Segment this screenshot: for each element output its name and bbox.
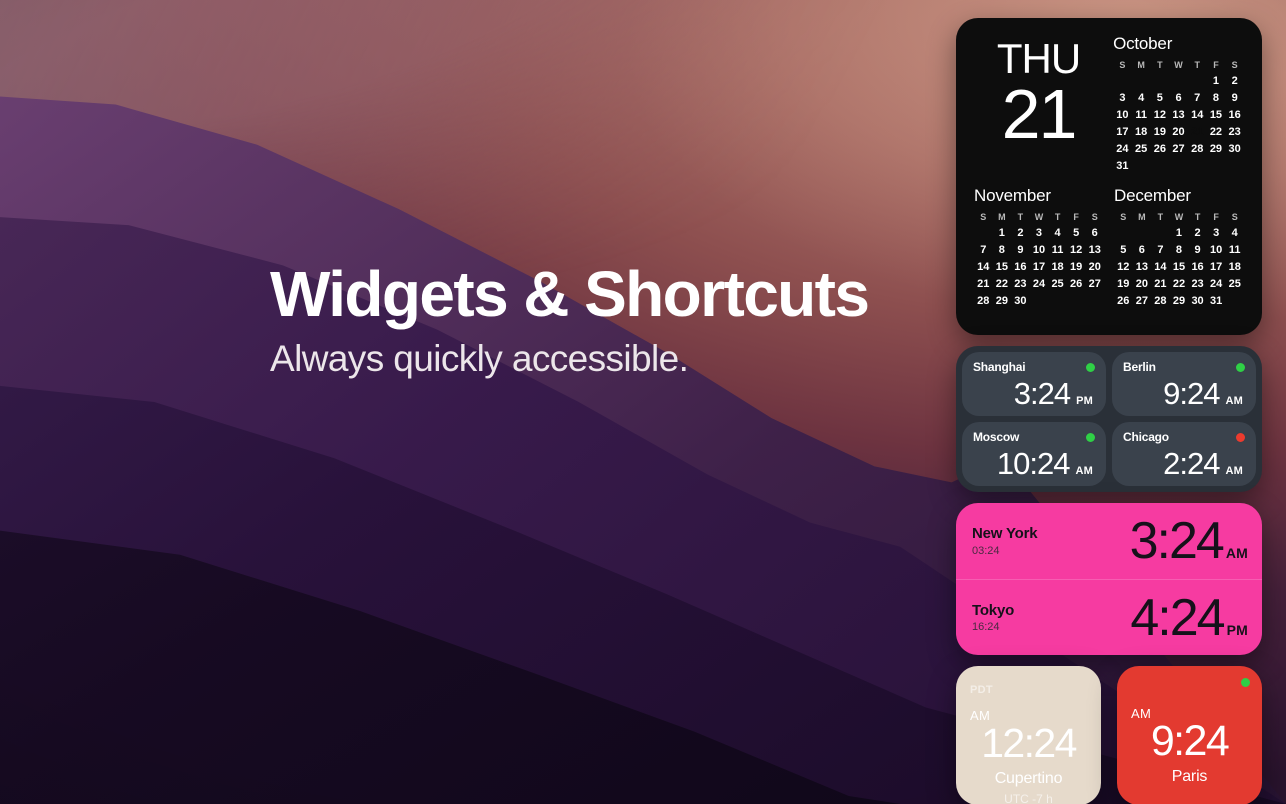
calendar-day[interactable]: 7 <box>1151 243 1170 258</box>
clock-cell-header: Moscow <box>973 430 1095 444</box>
calendar-day[interactable]: 24 <box>1030 277 1049 292</box>
calendar-day[interactable]: 10 <box>1113 108 1132 123</box>
calendar-day[interactable]: 12 <box>1067 243 1086 258</box>
calendar-day[interactable]: 5 <box>1150 91 1169 106</box>
calendar-day[interactable]: 20 <box>1133 277 1152 292</box>
clock-time: 3:24 <box>1130 515 1223 567</box>
month-grid: SMTWTFS.....1234567891011121314151617181… <box>1113 60 1244 174</box>
clock-city: New York <box>972 525 1037 542</box>
pink-row-labels: New York 03:24 <box>972 525 1037 556</box>
world-clock-cell[interactable]: Chicago 2:24 AM <box>1112 422 1256 486</box>
calendar-day[interactable]: 27 <box>1133 294 1152 309</box>
clock-meridiem: AM <box>1131 706 1151 721</box>
calendar-day[interactable]: 6 <box>1133 243 1152 258</box>
calendar-day[interactable]: 13 <box>1085 243 1104 258</box>
calendar-daynum: 21 <box>974 79 1103 149</box>
calendar-day[interactable]: 15 <box>993 260 1012 275</box>
calendar-day[interactable]: 25 <box>1132 142 1151 157</box>
clock-time-row: 3:24 PM <box>973 378 1095 409</box>
clock-time-row: 2:24 AM <box>1123 448 1245 479</box>
calendar-day[interactable]: 2 <box>1225 74 1244 89</box>
calendar-day[interactable]: 1 <box>1207 74 1226 89</box>
hero-text-block: Widgets & Shortcuts Always quickly acces… <box>270 262 890 377</box>
calendar-day[interactable]: 19 <box>1114 277 1133 292</box>
calendar-day[interactable]: 16 <box>1225 108 1244 123</box>
calendar-bottom-row: November SMTWTFS.12345678910111213141516… <box>974 186 1244 309</box>
calendar-day[interactable]: 11 <box>1132 108 1151 123</box>
calendar-day[interactable]: 5 <box>1114 243 1133 258</box>
mini-calendar-october[interactable]: October SMTWTFS.....12345678910111213141… <box>1113 34 1244 174</box>
clock-city: Shanghai <box>973 360 1025 374</box>
calendar-widget[interactable]: THU 21 October SMTWTFS.....1234567891011… <box>956 18 1262 335</box>
calendar-day-blank: . <box>1150 74 1169 89</box>
clock-city: Paris <box>1117 768 1262 786</box>
calendar-day[interactable]: 19 <box>1150 125 1169 140</box>
clock-time: 9:24 <box>1117 720 1262 763</box>
calendar-today-block: THU 21 <box>974 34 1103 174</box>
month-name: November <box>974 186 1104 206</box>
clock-meridiem: PM <box>1227 622 1248 638</box>
calendar-day[interactable]: 21 <box>1151 277 1170 292</box>
weekday-header: W <box>1169 60 1188 72</box>
clock-meridiem: AM <box>1225 395 1243 407</box>
clock-meridiem: AM <box>1225 465 1243 477</box>
calendar-day[interactable]: 30 <box>1188 294 1207 309</box>
weekday-header: S <box>1225 212 1244 224</box>
month-grid: SMTWTFS...123456789101112131415161718192… <box>1114 212 1244 309</box>
calendar-day[interactable]: 26 <box>1150 142 1169 157</box>
calendar-day[interactable]: 25 <box>1225 277 1244 292</box>
weekday-header: T <box>1188 212 1207 224</box>
timezone-abbreviation: PDT <box>970 684 993 696</box>
calendar-day[interactable]: 5 <box>1067 226 1086 241</box>
clock-city: Tokyo <box>972 602 1014 619</box>
weekday-header: S <box>974 212 993 224</box>
calendar-day[interactable]: 3 <box>1207 226 1226 241</box>
clock-city: Cupertino <box>956 770 1101 788</box>
clock-cell-header: Chicago <box>1123 430 1245 444</box>
calendar-day[interactable]: 23 <box>1225 125 1244 140</box>
calendar-day[interactable]: 29 <box>1207 142 1226 157</box>
calendar-day[interactable]: 23 <box>1011 277 1030 292</box>
clock-time: 4:24 <box>1130 592 1223 644</box>
daylight-dot-icon <box>1241 678 1250 687</box>
calendar-day[interactable]: 30 <box>1225 142 1244 157</box>
calendar-day[interactable]: 8 <box>993 243 1012 258</box>
weekday-header: S <box>1113 60 1132 72</box>
calendar-day[interactable]: 16 <box>1011 260 1030 275</box>
clock-city: Moscow <box>973 430 1019 444</box>
clock-city: Berlin <box>1123 360 1156 374</box>
calendar-day-today[interactable]: 21 <box>1188 125 1207 140</box>
clock-time-24h: 16:24 <box>972 621 1014 633</box>
world-clock-cell[interactable]: Shanghai 3:24 PM <box>962 352 1106 416</box>
weekday-header: M <box>993 212 1012 224</box>
calendar-day[interactable]: 29 <box>1170 294 1189 309</box>
widget-column: THU 21 October SMTWTFS.....1234567891011… <box>956 18 1262 804</box>
page-title: Widgets & Shortcuts <box>270 262 890 326</box>
clock-time-24h: 03:24 <box>972 545 1037 557</box>
clock-time: 3:24 <box>1014 378 1070 409</box>
calendar-day[interactable]: 30 <box>1011 294 1030 309</box>
clock-time: 2:24 <box>1163 448 1219 479</box>
calendar-day-blank: . <box>1169 74 1188 89</box>
desktop: Widgets & Shortcuts Always quickly acces… <box>0 0 1286 804</box>
calendar-day[interactable]: 13 <box>1133 260 1152 275</box>
calendar-day[interactable]: 24 <box>1207 277 1226 292</box>
calendar-day[interactable]: 27 <box>1085 277 1104 292</box>
calendar-day[interactable]: 17 <box>1030 260 1049 275</box>
weekday-header: W <box>1170 212 1189 224</box>
calendar-day[interactable]: 29 <box>993 294 1012 309</box>
pink-row-labels: Tokyo 16:24 <box>972 602 1014 633</box>
clock-meridiem: PM <box>1076 395 1093 407</box>
clock-cell-header: Shanghai <box>973 360 1095 374</box>
utc-offset: UTC -7 h <box>956 792 1101 804</box>
calendar-day[interactable]: 28 <box>1151 294 1170 309</box>
paris-clock-widget[interactable]: AM 9:24 Paris <box>1117 666 1262 804</box>
calendar-day[interactable]: 3 <box>1113 91 1132 106</box>
calendar-day-blank: . <box>1113 74 1132 89</box>
calendar-day[interactable]: 4 <box>1048 226 1067 241</box>
calendar-day[interactable]: 19 <box>1067 260 1086 275</box>
mini-calendar-december[interactable]: December SMTWTFS...123456789101112131415… <box>1114 186 1244 309</box>
nighttime-dot-icon <box>1236 433 1245 442</box>
month-name: October <box>1113 34 1244 54</box>
mini-calendar-november[interactable]: November SMTWTFS.12345678910111213141516… <box>974 186 1104 309</box>
clock-time: 9:24 <box>1163 378 1219 409</box>
calendar-day[interactable]: 20 <box>1085 260 1104 275</box>
calendar-day[interactable]: 6 <box>1085 226 1104 241</box>
month-grid: SMTWTFS.12345678910111213141516171819202… <box>974 212 1104 309</box>
calendar-day[interactable]: 1 <box>993 226 1012 241</box>
calendar-day[interactable]: 22 <box>993 277 1012 292</box>
weekday-header: F <box>1067 212 1086 224</box>
calendar-day[interactable]: 14 <box>974 260 993 275</box>
clock-time-row: 10:24 AM <box>973 448 1095 479</box>
calendar-day-blank: . <box>1132 74 1151 89</box>
calendar-day[interactable]: 17 <box>1207 260 1226 275</box>
world-clock-cell[interactable]: Moscow 10:24 AM <box>962 422 1106 486</box>
world-clock-cell[interactable]: Berlin 9:24 AM <box>1112 352 1256 416</box>
pink-clock-row[interactable]: New York 03:24 3:24 AM <box>956 503 1262 579</box>
daylight-dot-icon <box>1086 363 1095 372</box>
clock-time: 12:24 <box>956 723 1101 764</box>
weekday-header: S <box>1225 60 1244 72</box>
calendar-day[interactable]: 25 <box>1048 277 1067 292</box>
calendar-day[interactable]: 9 <box>1225 91 1244 106</box>
calendar-day[interactable]: 18 <box>1132 125 1151 140</box>
calendar-day[interactable]: 15 <box>1170 260 1189 275</box>
weekday-header: T <box>1151 212 1170 224</box>
calendar-day[interactable]: 12 <box>1150 108 1169 123</box>
calendar-day[interactable]: 13 <box>1169 108 1188 123</box>
pink-clock-row[interactable]: Tokyo 16:24 4:24 PM <box>956 579 1262 655</box>
calendar-day-blank: . <box>1114 226 1133 241</box>
calendar-day[interactable]: 20 <box>1169 125 1188 140</box>
calendar-day[interactable]: 11 <box>1225 243 1244 258</box>
calendar-day[interactable]: 7 <box>974 243 993 258</box>
weekday-header: T <box>1048 212 1067 224</box>
calendar-day[interactable]: 18 <box>1225 260 1244 275</box>
calendar-day[interactable]: 1 <box>1170 226 1189 241</box>
world-clocks-grid-widget[interactable]: Shanghai 3:24 PM Berlin 9:24 AM <box>956 346 1262 492</box>
calendar-day[interactable]: 21 <box>974 277 993 292</box>
calendar-day[interactable]: 14 <box>1151 260 1170 275</box>
calendar-day[interactable]: 11 <box>1048 243 1067 258</box>
clock-cell-header: Berlin <box>1123 360 1245 374</box>
calendar-day[interactable]: 22 <box>1207 125 1226 140</box>
calendar-day[interactable]: 14 <box>1188 108 1207 123</box>
calendar-top-row: THU 21 October SMTWTFS.....1234567891011… <box>974 34 1244 174</box>
weekday-header: M <box>1132 60 1151 72</box>
calendar-day[interactable]: 26 <box>1114 294 1133 309</box>
daylight-dot-icon <box>1086 433 1095 442</box>
calendar-day[interactable]: 2 <box>1188 226 1207 241</box>
calendar-day[interactable]: 7 <box>1188 91 1207 106</box>
calendar-day[interactable]: 9 <box>1011 243 1030 258</box>
calendar-day[interactable]: 24 <box>1113 142 1132 157</box>
calendar-day[interactable]: 17 <box>1113 125 1132 140</box>
weekday-header: T <box>1150 60 1169 72</box>
cupertino-clock-widget[interactable]: PDT AM 12:24 Cupertino UTC -7 h <box>956 666 1101 804</box>
clock-time-row: 9:24 AM <box>1123 378 1245 409</box>
daylight-dot-icon <box>1236 363 1245 372</box>
calendar-day-blank: . <box>1151 226 1170 241</box>
month-name: December <box>1114 186 1244 206</box>
pink-row-time: 3:24 AM <box>1130 515 1248 567</box>
clock-meridiem: AM <box>1226 545 1248 561</box>
calendar-day[interactable]: 26 <box>1067 277 1086 292</box>
weekday-header: M <box>1133 212 1152 224</box>
calendar-day[interactable]: 22 <box>1170 277 1189 292</box>
calendar-day[interactable]: 23 <box>1188 277 1207 292</box>
weekday-header: W <box>1030 212 1049 224</box>
weekday-header: S <box>1114 212 1133 224</box>
calendar-day[interactable]: 3 <box>1030 226 1049 241</box>
calendar-day[interactable]: 4 <box>1132 91 1151 106</box>
pink-clocks-widget[interactable]: New York 03:24 3:24 AM Tokyo 16:24 4:24 … <box>956 503 1262 655</box>
weekday-header: F <box>1207 212 1226 224</box>
weekday-header: S <box>1085 212 1104 224</box>
calendar-day[interactable]: 18 <box>1048 260 1067 275</box>
calendar-day[interactable]: 28 <box>1188 142 1207 157</box>
calendar-day[interactable]: 2 <box>1011 226 1030 241</box>
clock-meridiem: AM <box>1075 465 1093 477</box>
clock-city: Chicago <box>1123 430 1169 444</box>
pink-row-time: 4:24 PM <box>1130 592 1248 644</box>
calendar-day[interactable]: 31 <box>1207 294 1226 309</box>
square-clocks-row: PDT AM 12:24 Cupertino UTC -7 h AM 9:24 … <box>956 666 1262 804</box>
calendar-day[interactable]: 8 <box>1170 243 1189 258</box>
calendar-day[interactable]: 28 <box>974 294 993 309</box>
weekday-header: T <box>1011 212 1030 224</box>
calendar-day[interactable]: 31 <box>1113 159 1132 174</box>
calendar-day[interactable]: 4 <box>1225 226 1244 241</box>
calendar-day-blank: . <box>974 226 993 241</box>
calendar-day[interactable]: 15 <box>1207 108 1226 123</box>
page-subtitle: Always quickly accessible. <box>270 340 890 377</box>
calendar-day[interactable]: 16 <box>1188 260 1207 275</box>
calendar-day-blank: . <box>1133 226 1152 241</box>
calendar-day[interactable]: 10 <box>1030 243 1049 258</box>
calendar-day[interactable]: 10 <box>1207 243 1226 258</box>
calendar-day[interactable]: 27 <box>1169 142 1188 157</box>
calendar-day[interactable]: 8 <box>1207 91 1226 106</box>
weekday-header: F <box>1207 60 1226 72</box>
calendar-day[interactable]: 12 <box>1114 260 1133 275</box>
weekday-header: T <box>1188 60 1207 72</box>
calendar-day-blank: . <box>1188 74 1207 89</box>
clock-time: 10:24 <box>997 448 1070 479</box>
calendar-day[interactable]: 6 <box>1169 91 1188 106</box>
calendar-day[interactable]: 9 <box>1188 243 1207 258</box>
